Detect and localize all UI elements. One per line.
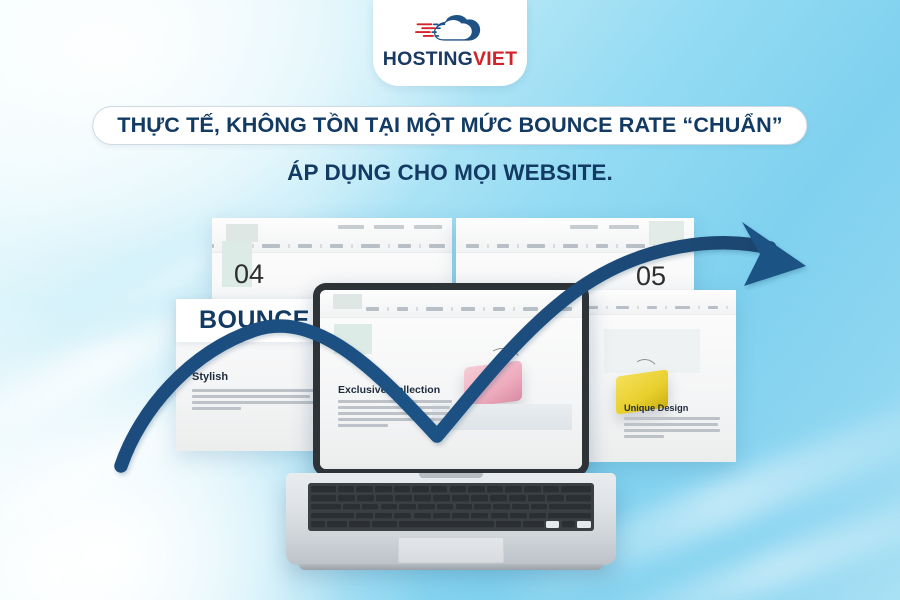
headline-line-2: ÁP DỤNG CHO MỌI WEBSITE.	[287, 160, 613, 186]
poster-canvas: 04 05	[0, 0, 900, 600]
cloud-speed-icon	[411, 12, 489, 46]
headline-line-1: THỰC TẾ, KHÔNG TỒN TẠI MỘT MỨC BOUNCE RA…	[117, 114, 782, 136]
headline-pill: THỰC TẾ, KHÔNG TỒN TẠI MỘT MỨC BOUNCE RA…	[92, 106, 807, 145]
brand-word-hosting: HOSTING	[383, 48, 473, 70]
brand-logo-badge[interactable]: HOSTINGVIET	[373, 0, 527, 86]
brand-wordmark: HOSTINGVIET	[383, 48, 517, 71]
brand-word-viet: VIET	[473, 48, 517, 70]
bounce-curve-arrow	[0, 0, 900, 600]
